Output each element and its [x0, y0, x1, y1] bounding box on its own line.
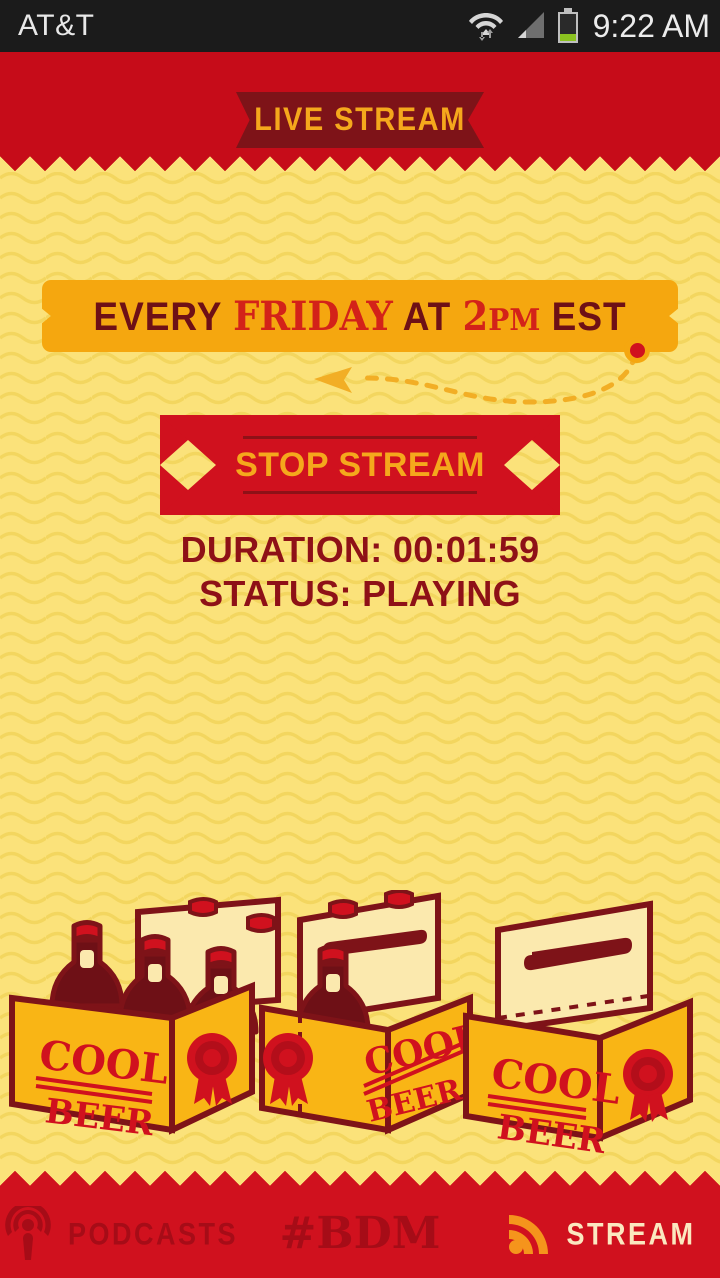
beer-crate-3: COOL BEER — [466, 904, 690, 1162]
nav-item-podcasts[interactable]: PODCASTS — [0, 1190, 240, 1278]
status-label: STATUS: PLAYING — [0, 572, 720, 616]
live-stream-title: LIVE STREAM — [254, 102, 465, 139]
schedule-time-number: 2 — [463, 292, 489, 340]
beer-crate-1: COOL BEER — [12, 899, 278, 1144]
schedule-text: EVERY FRIDAY AT 2PM EST — [93, 292, 626, 340]
android-status-bar: AT&T 9:22 AM — [0, 0, 720, 52]
schedule-banner: EVERY FRIDAY AT 2PM EST — [42, 280, 678, 352]
battery-icon — [556, 8, 580, 44]
nav-item-bdm[interactable]: #BDM — [240, 1190, 480, 1278]
stop-stream-button[interactable]: STOP STREAM — [160, 415, 560, 515]
carrier-label: AT&T — [18, 9, 94, 43]
duration-label: DURATION: 00:01:59 — [0, 528, 720, 572]
schedule-day: FRIDAY — [233, 292, 393, 340]
bottom-nav-zigzag-edge — [0, 1170, 720, 1190]
beer-crate-2: COOL BEER — [262, 891, 483, 1130]
header-zigzag-edge — [0, 150, 720, 172]
podcast-icon — [2, 1206, 54, 1262]
nav-label-podcasts: PODCASTS — [68, 1216, 238, 1252]
schedule-middle: AT — [393, 294, 463, 338]
app-screen: AT&T 9:22 AM — [0, 0, 720, 1278]
bottom-nav-items: PODCASTS #BDM STREAM — [0, 1190, 720, 1278]
schedule-prefix: EVERY — [93, 294, 233, 338]
stop-stream-label: STOP STREAM — [235, 445, 485, 485]
nav-item-stream[interactable]: STREAM — [480, 1190, 720, 1278]
clock-label: 9:22 AM — [593, 8, 710, 45]
stop-stream-content: STOP STREAM — [160, 415, 560, 515]
ribbon-rule-top — [243, 436, 477, 439]
playback-status-block: DURATION: 00:01:59 STATUS: PLAYING — [0, 528, 720, 616]
dashed-curved-arrow — [290, 350, 650, 420]
nav-label-stream: STREAM — [567, 1216, 696, 1252]
rss-icon — [505, 1210, 553, 1258]
cellular-signal-icon — [513, 9, 547, 43]
wifi-icon — [468, 9, 504, 43]
beer-crates-illustration: COOL BEER COOL BEER — [0, 890, 720, 1190]
banner-anchor-dot — [624, 337, 650, 363]
schedule-time-suffix: PM — [488, 302, 540, 338]
status-icons: 9:22 AM — [468, 8, 710, 45]
schedule-zone: EST — [540, 294, 626, 338]
ribbon-rule-bottom — [243, 491, 477, 494]
bottom-nav-bar: PODCASTS #BDM STREAM — [0, 1190, 720, 1278]
live-stream-ribbon: LIVE STREAM — [236, 92, 484, 148]
nav-label-bdm: #BDM — [280, 1212, 441, 1256]
